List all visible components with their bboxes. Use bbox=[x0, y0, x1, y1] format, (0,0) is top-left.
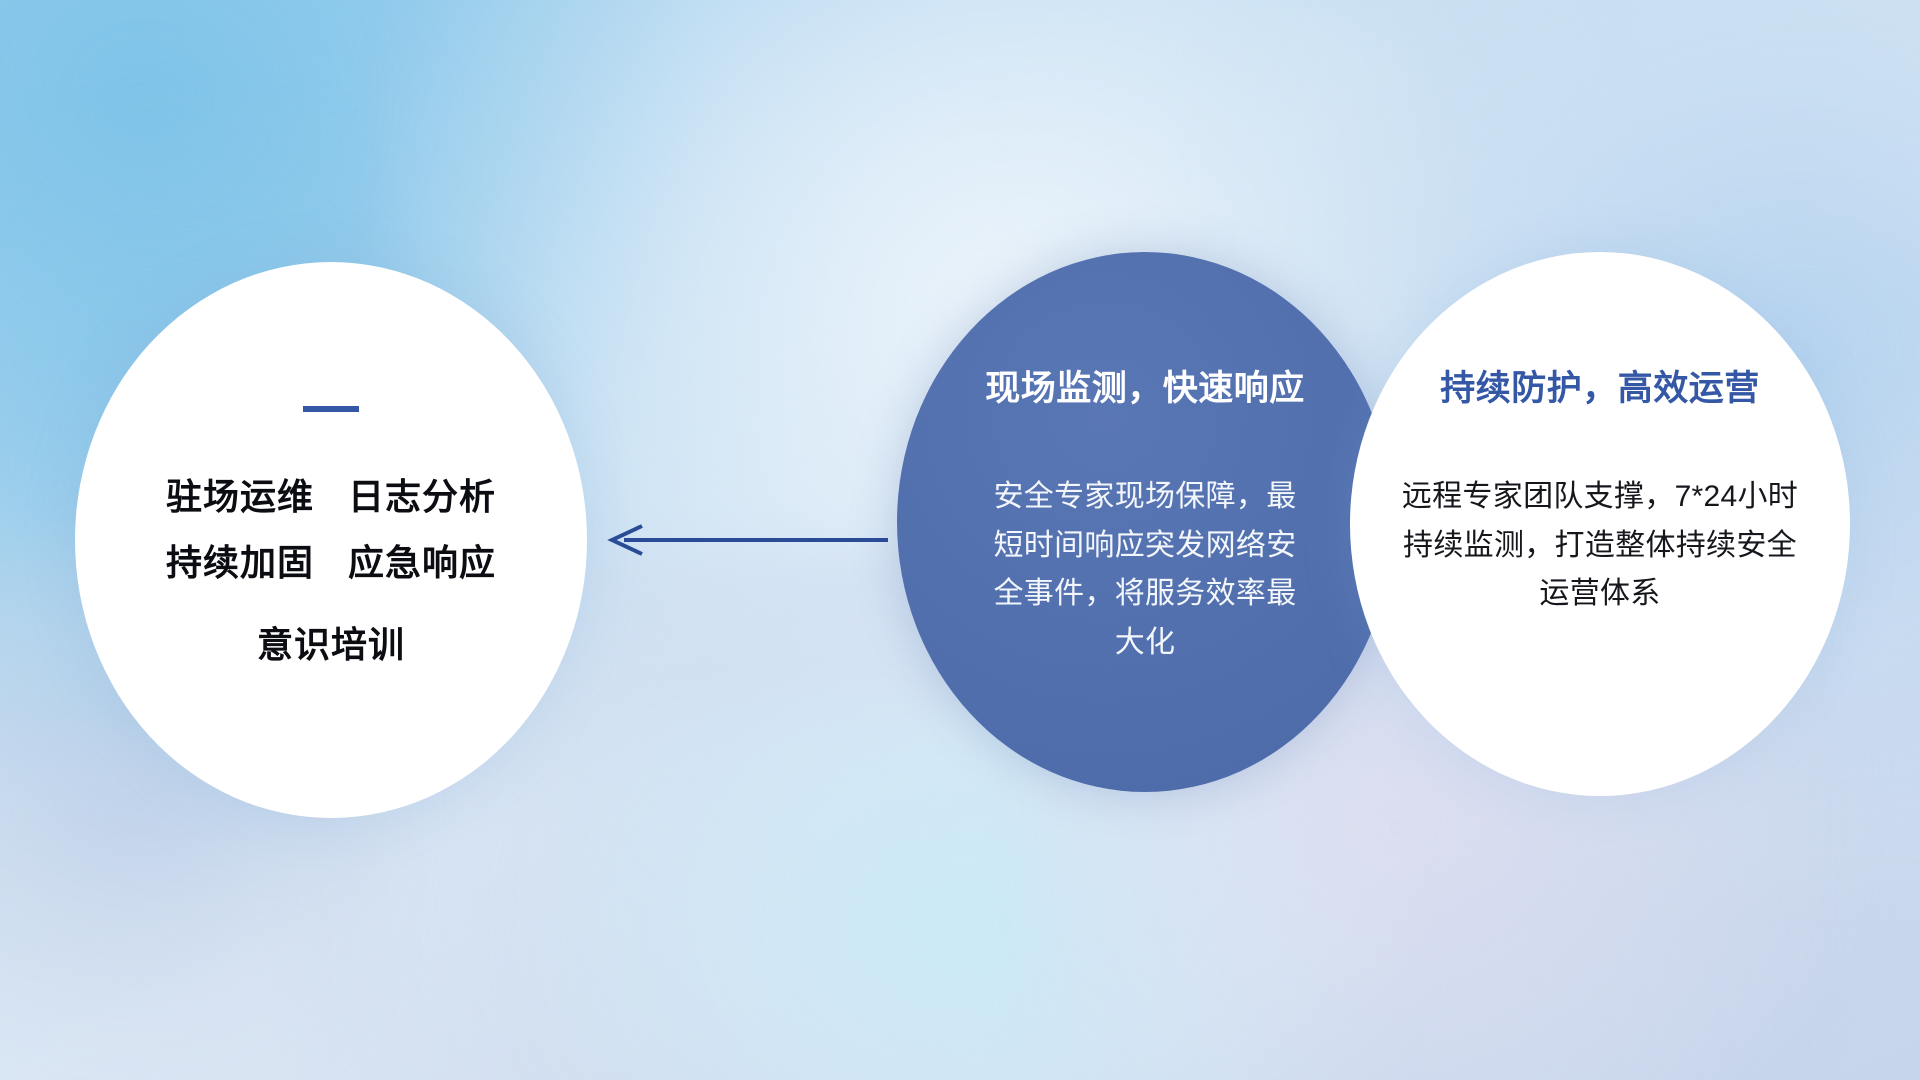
capability-tag: 日志分析 bbox=[348, 468, 496, 526]
capability-tag: 驻场运维 bbox=[166, 468, 314, 526]
middle-bubble-body: 安全专家现场保障，最短时间响应突发网络安全事件，将服务效率最大化 bbox=[980, 473, 1310, 667]
right-bubble-content: 持续防护，高效运营 远程专家团队支撑，7*24小时持续监测，打造整体持续安全运营… bbox=[1350, 252, 1850, 796]
right-bubble-title: 持续防护，高效运营 bbox=[1440, 360, 1760, 411]
capability-tag: 应急响应 bbox=[348, 534, 496, 592]
capability-tag-row: 持续加固 应急响应 bbox=[166, 534, 496, 592]
middle-bubble-content: 现场监测，快速响应 安全专家现场保障，最短时间响应突发网络安全事件，将服务效率最… bbox=[897, 252, 1393, 792]
capability-tag: 持续加固 bbox=[166, 534, 314, 592]
capability-tag-list: 驻场运维 日志分析 持续加固 应急响应 意识培训 bbox=[166, 468, 496, 675]
capability-tag: 意识培训 bbox=[257, 616, 405, 674]
right-bubble-body: 远程专家团队支撑，7*24小时持续监测，打造整体持续安全运营体系 bbox=[1390, 473, 1810, 619]
left-bubble-divider-dash bbox=[303, 406, 359, 412]
connector-arrow-left bbox=[590, 512, 890, 568]
capability-tag-row: 驻场运维 日志分析 bbox=[166, 468, 496, 526]
capability-tag-row: 意识培训 bbox=[257, 616, 405, 674]
middle-bubble-title: 现场监测，快速响应 bbox=[985, 360, 1305, 411]
slide-canvas: 驻场运维 日志分析 持续加固 应急响应 意识培训 现场监测，快速响应 安全专家现… bbox=[0, 0, 1920, 1080]
left-bubble-content: 驻场运维 日志分析 持续加固 应急响应 意识培训 bbox=[75, 262, 587, 818]
